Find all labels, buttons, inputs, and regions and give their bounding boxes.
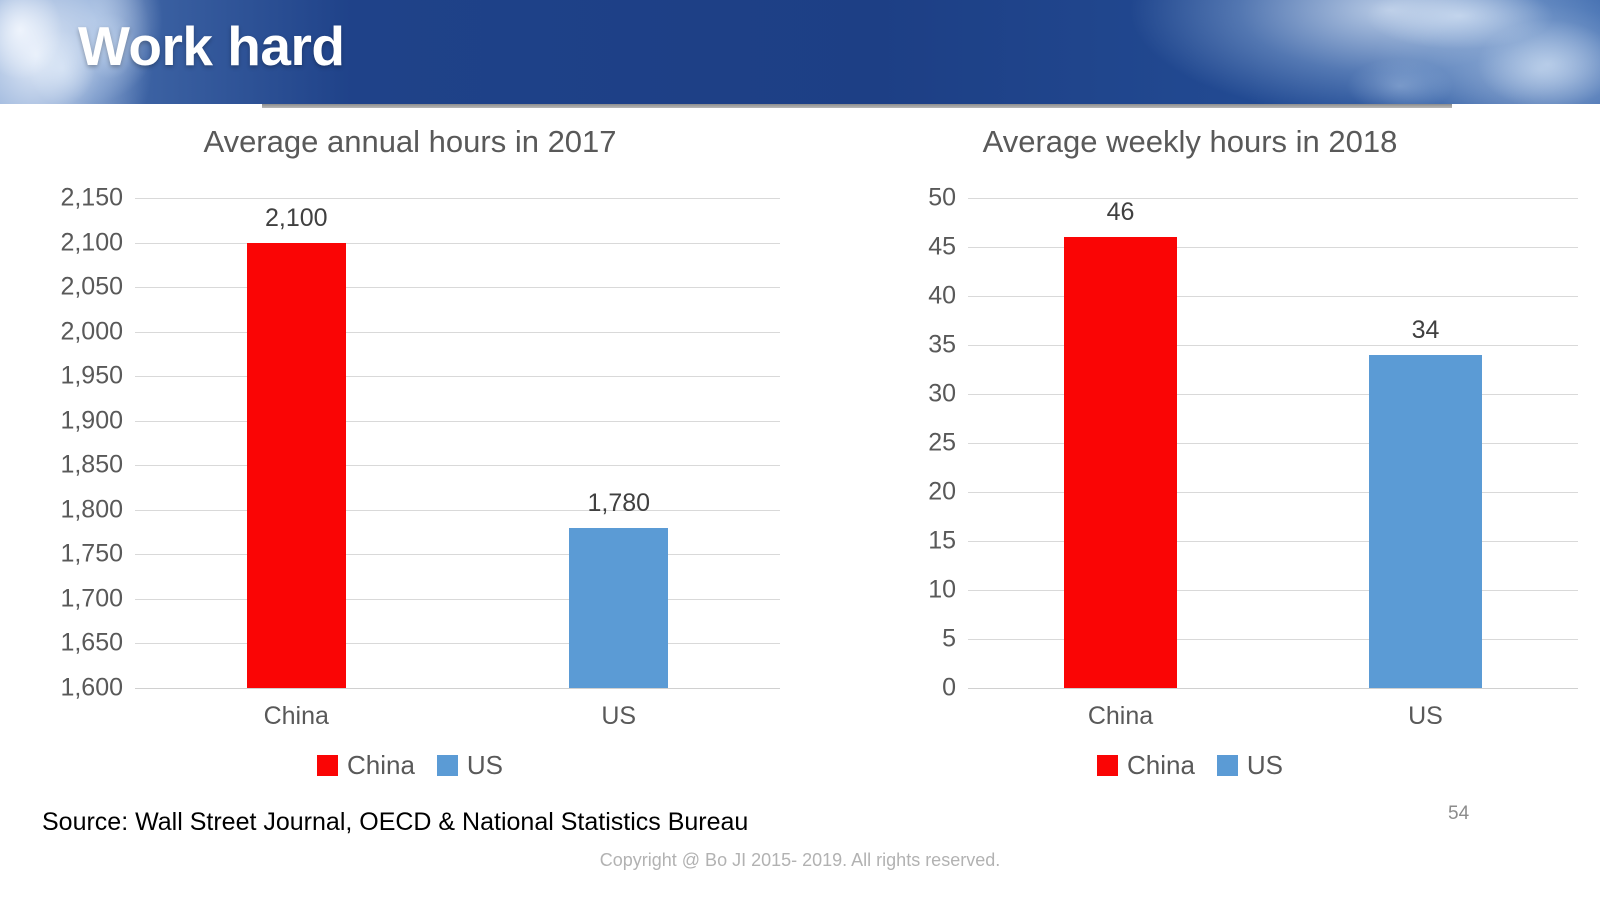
gridline: [968, 345, 1578, 346]
y-axis-tick-label: 45: [928, 233, 956, 262]
x-axis-category-label: China: [264, 702, 329, 731]
legend-swatch-china-icon: [1097, 755, 1118, 776]
y-axis-tick-label: 1,800: [60, 495, 123, 524]
page-number: 54: [1448, 803, 1469, 825]
legend-label-us: US: [467, 750, 503, 781]
gridline: [968, 443, 1578, 444]
gridline: [968, 541, 1578, 542]
gridline: [968, 247, 1578, 248]
gridline: [135, 287, 780, 288]
y-axis-tick-label: 50: [928, 184, 956, 213]
y-axis-tick-label: 1,600: [60, 674, 123, 703]
page-title: Work hard: [78, 14, 344, 78]
gridline: [135, 688, 780, 689]
y-axis-tick-label: 20: [928, 478, 956, 507]
legend-item-china[interactable]: China: [1097, 750, 1195, 781]
cloud-texture-right-icon: [1280, 0, 1600, 104]
gridline: [135, 243, 780, 244]
legend-label-china: China: [1127, 750, 1195, 781]
copyright-notice: Copyright @ Bo JI 2015- 2019. All rights…: [0, 850, 1600, 871]
legend-swatch-china-icon: [317, 755, 338, 776]
chart-title: Average annual hours in 2017: [20, 124, 800, 160]
gridline: [968, 296, 1578, 297]
y-axis-tick-label: 1,900: [60, 406, 123, 435]
x-axis-category-label: US: [601, 702, 636, 731]
plot-area: 5045403530252015105046China34US: [968, 198, 1578, 688]
bar-us[interactable]: [1369, 355, 1482, 688]
gridline: [135, 643, 780, 644]
legend-item-china[interactable]: China: [317, 750, 415, 781]
y-axis-tick-label: 1,850: [60, 451, 123, 480]
gridline: [968, 590, 1578, 591]
legend-swatch-us-icon: [1217, 755, 1238, 776]
chart-panel-annual-hours: Average annual hours in 2017 2,1502,1002…: [20, 110, 800, 800]
gridline: [135, 421, 780, 422]
gridline: [135, 332, 780, 333]
y-axis-tick-label: 35: [928, 331, 956, 360]
y-axis-tick-label: 2,100: [60, 228, 123, 257]
y-axis-tick-label: 0: [942, 674, 956, 703]
chart-legend: China US: [800, 750, 1580, 781]
x-axis-category-label: US: [1408, 702, 1443, 731]
legend-swatch-us-icon: [437, 755, 458, 776]
gridline: [968, 198, 1578, 199]
gridline: [135, 554, 780, 555]
bar-value-label: 46: [1107, 198, 1135, 227]
legend-item-us[interactable]: US: [437, 750, 503, 781]
bar-value-label: 34: [1412, 316, 1440, 345]
y-axis-tick-label: 40: [928, 282, 956, 311]
legend-item-us[interactable]: US: [1217, 750, 1283, 781]
y-axis-tick-label: 10: [928, 576, 956, 605]
gridline: [135, 465, 780, 466]
gridline: [968, 688, 1578, 689]
y-axis-tick-label: 1,750: [60, 540, 123, 569]
gridline: [135, 510, 780, 511]
bar-us[interactable]: [569, 528, 668, 688]
plot-area: 2,1502,1002,0502,0001,9501,9001,8501,800…: [135, 198, 780, 688]
slide: Work hard Average annual hours in 2017 2…: [0, 0, 1600, 900]
gridline: [135, 198, 780, 199]
y-axis-tick-label: 1,950: [60, 362, 123, 391]
chart-panel-weekly-hours: Average weekly hours in 2018 50454035302…: [800, 110, 1580, 800]
gridline: [135, 599, 780, 600]
source-note: Source: Wall Street Journal, OECD & Nati…: [42, 808, 748, 837]
y-axis-tick-label: 2,150: [60, 184, 123, 213]
y-axis-tick-label: 2,050: [60, 273, 123, 302]
bar-value-label: 1,780: [587, 489, 650, 518]
y-axis-tick-label: 2,000: [60, 317, 123, 346]
gridline: [968, 394, 1578, 395]
y-axis-tick-label: 30: [928, 380, 956, 409]
y-axis-tick-label: 15: [928, 527, 956, 556]
header-underline-divider: [262, 104, 1452, 108]
gridline: [135, 376, 780, 377]
gridline: [968, 639, 1578, 640]
gridline: [968, 492, 1578, 493]
chart-title: Average weekly hours in 2018: [800, 124, 1580, 160]
y-axis-tick-label: 1,650: [60, 629, 123, 658]
legend-label-us: US: [1247, 750, 1283, 781]
y-axis-tick-label: 25: [928, 429, 956, 458]
x-axis-category-label: China: [1088, 702, 1153, 731]
bar-china[interactable]: [1064, 237, 1177, 688]
y-axis-tick-label: 1,700: [60, 584, 123, 613]
bar-value-label: 2,100: [265, 204, 328, 233]
legend-label-china: China: [347, 750, 415, 781]
chart-legend: China US: [20, 750, 800, 781]
bar-china[interactable]: [247, 243, 346, 688]
y-axis-tick-label: 5: [942, 625, 956, 654]
